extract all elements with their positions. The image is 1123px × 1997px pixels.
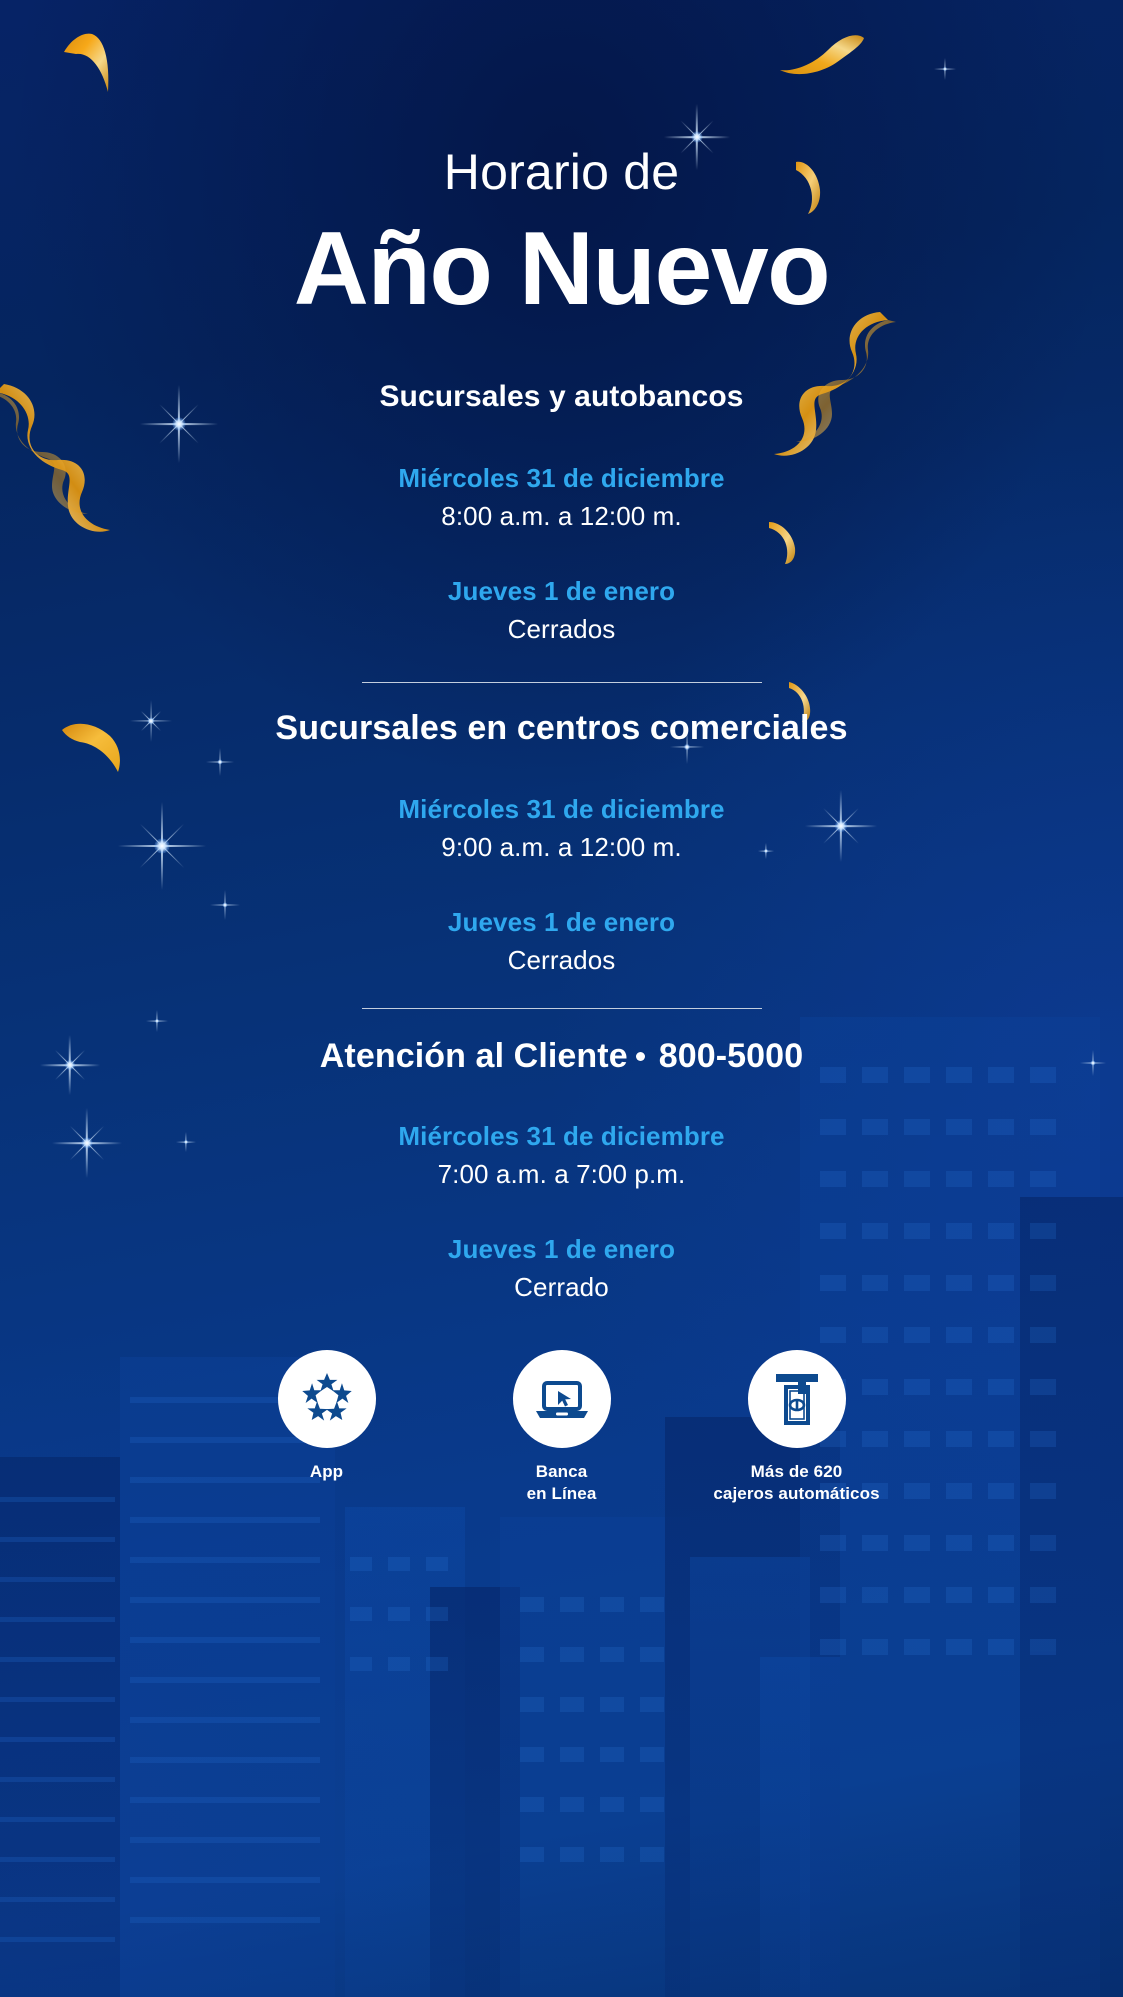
channel-icon-circle: [513, 1350, 611, 1448]
schedule-section-malls: Sucursales en centros comerciales Miérco…: [0, 709, 1123, 1009]
schedule-section-customer-service: Atención al Cliente800-5000 Miércoles 31…: [0, 1037, 1123, 1303]
entry-day: Miércoles 31 de diciembre: [0, 794, 1123, 825]
stars-logo-icon: [295, 1367, 359, 1431]
schedule-entry: Miércoles 31 de diciembre 9:00 a.m. a 12…: [0, 794, 1123, 863]
section-heading: Sucursales y autobancos: [0, 380, 1123, 414]
channel-app[interactable]: App: [237, 1350, 417, 1483]
channels-row: App Banca en Línea: [0, 1350, 1123, 1505]
channel-online-banking[interactable]: Banca en Línea: [472, 1350, 652, 1505]
bullet-separator-icon: [636, 1052, 645, 1061]
section-divider: [362, 682, 762, 683]
entry-day: Jueves 1 de enero: [0, 907, 1123, 938]
schedule-entry: Jueves 1 de enero Cerrado: [0, 1234, 1123, 1303]
channel-icon-circle: [278, 1350, 376, 1448]
section-divider: [362, 1008, 762, 1009]
channel-label-line1: Más de 620: [751, 1462, 843, 1481]
entry-hours: Cerrados: [0, 614, 1123, 645]
section-heading: Sucursales en centros comerciales: [0, 709, 1123, 748]
customer-service-phone[interactable]: 800-5000: [659, 1037, 804, 1075]
entry-day: Miércoles 31 de diciembre: [0, 463, 1123, 494]
channel-label: App: [237, 1461, 417, 1483]
entry-hours: 9:00 a.m. a 12:00 m.: [0, 832, 1123, 863]
channel-icon-circle: [748, 1350, 846, 1448]
channel-label: Más de 620 cajeros automáticos: [707, 1461, 887, 1505]
new-year-hours-poster: Horario de Año Nuevo Sucursales y autoba…: [0, 0, 1123, 1997]
entry-day: Jueves 1 de enero: [0, 576, 1123, 607]
entry-hours: Cerrado: [0, 1272, 1123, 1303]
channel-label-line1: Banca: [536, 1462, 588, 1481]
poster-eyebrow: Horario de: [0, 0, 1123, 197]
channel-label-line1: App: [310, 1462, 343, 1481]
entry-hours: 8:00 a.m. a 12:00 m.: [0, 501, 1123, 532]
section-heading: Atención al Cliente: [320, 1037, 628, 1075]
poster-title: Año Nuevo: [0, 213, 1123, 325]
schedule-entry: Miércoles 31 de diciembre 7:00 a.m. a 7:…: [0, 1121, 1123, 1190]
channel-label: Banca en Línea: [472, 1461, 652, 1505]
section-heading-row: Atención al Cliente800-5000: [0, 1037, 1123, 1076]
entry-day: Miércoles 31 de diciembre: [0, 1121, 1123, 1152]
entry-hours: Cerrados: [0, 945, 1123, 976]
schedule-entry: Miércoles 31 de diciembre 8:00 a.m. a 12…: [0, 463, 1123, 532]
entry-hours: 7:00 a.m. a 7:00 p.m.: [0, 1159, 1123, 1190]
channel-label-line2: cajeros automáticos: [713, 1484, 879, 1503]
channel-label-line2: en Línea: [527, 1484, 597, 1503]
schedule-section-branches: Sucursales y autobancos Miércoles 31 de …: [0, 380, 1123, 683]
poster-content: Horario de Año Nuevo Sucursales y autoba…: [0, 0, 1123, 1997]
schedule-entry: Jueves 1 de enero Cerrados: [0, 576, 1123, 645]
atm-banknote-icon: [765, 1367, 829, 1431]
channel-atms[interactable]: Más de 620 cajeros automáticos: [707, 1350, 887, 1505]
schedule-entry: Jueves 1 de enero Cerrados: [0, 907, 1123, 976]
laptop-cursor-icon: [530, 1367, 594, 1431]
entry-day: Jueves 1 de enero: [0, 1234, 1123, 1265]
